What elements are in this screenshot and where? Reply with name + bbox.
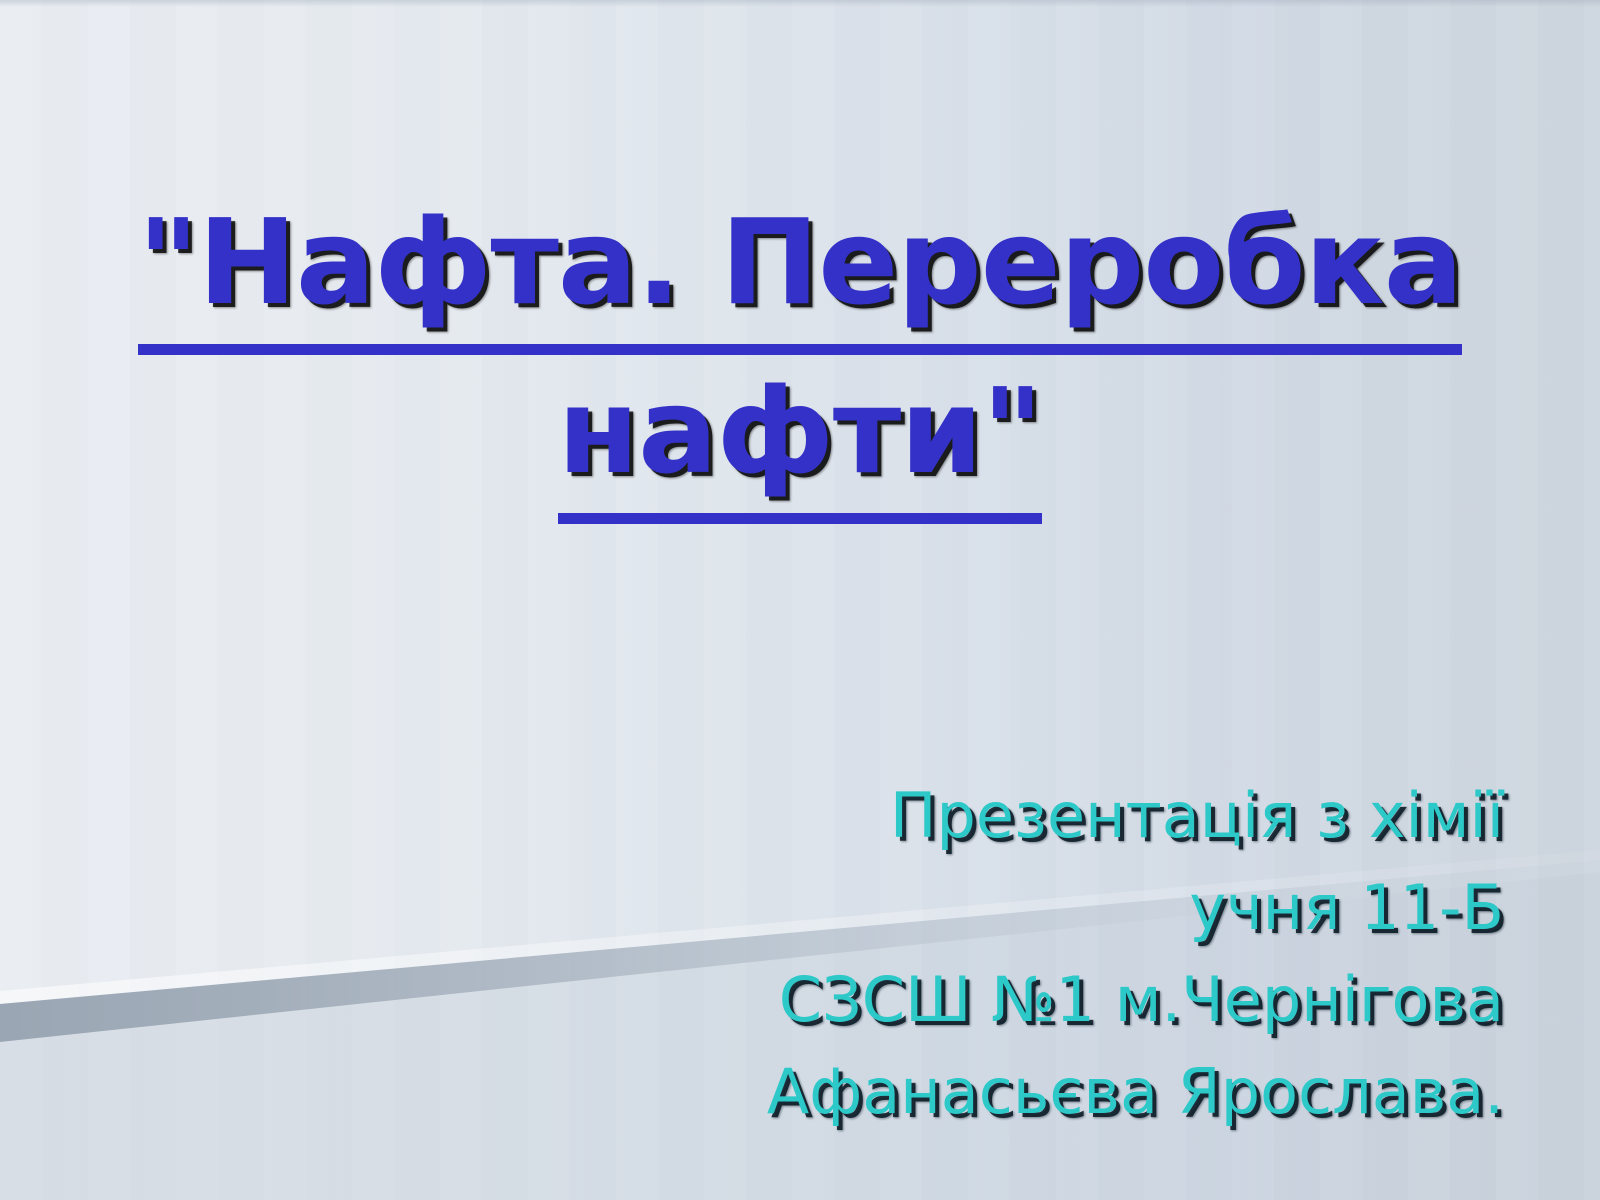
slide-title-line-1: "Нафта. Переробка [60,186,1540,355]
presentation-slide: "Нафта. Переробка нафти" Презентація з х… [0,0,1600,1200]
subtitle-line-author: Афанасьєва Ярослава. [504,1046,1504,1138]
slide-subtitle: Презентація з хімії учня 11-Б СЗСШ №1 м.… [504,770,1504,1138]
slide-title: "Нафта. Переробка нафти" [60,186,1540,524]
slide-title-line-2-text: нафти" [558,355,1043,524]
slide-content: "Нафта. Переробка нафти" Презентація з х… [0,0,1600,1200]
slide-title-line-2: нафти" [60,355,1540,524]
slide-title-line-1-text: "Нафта. Переробка [138,186,1463,355]
subtitle-line-presentation-subject: Презентація з хімії [504,770,1504,862]
subtitle-line-school: СЗСШ №1 м.Чернігова [504,954,1504,1046]
subtitle-line-class: учня 11-Б [504,862,1504,954]
